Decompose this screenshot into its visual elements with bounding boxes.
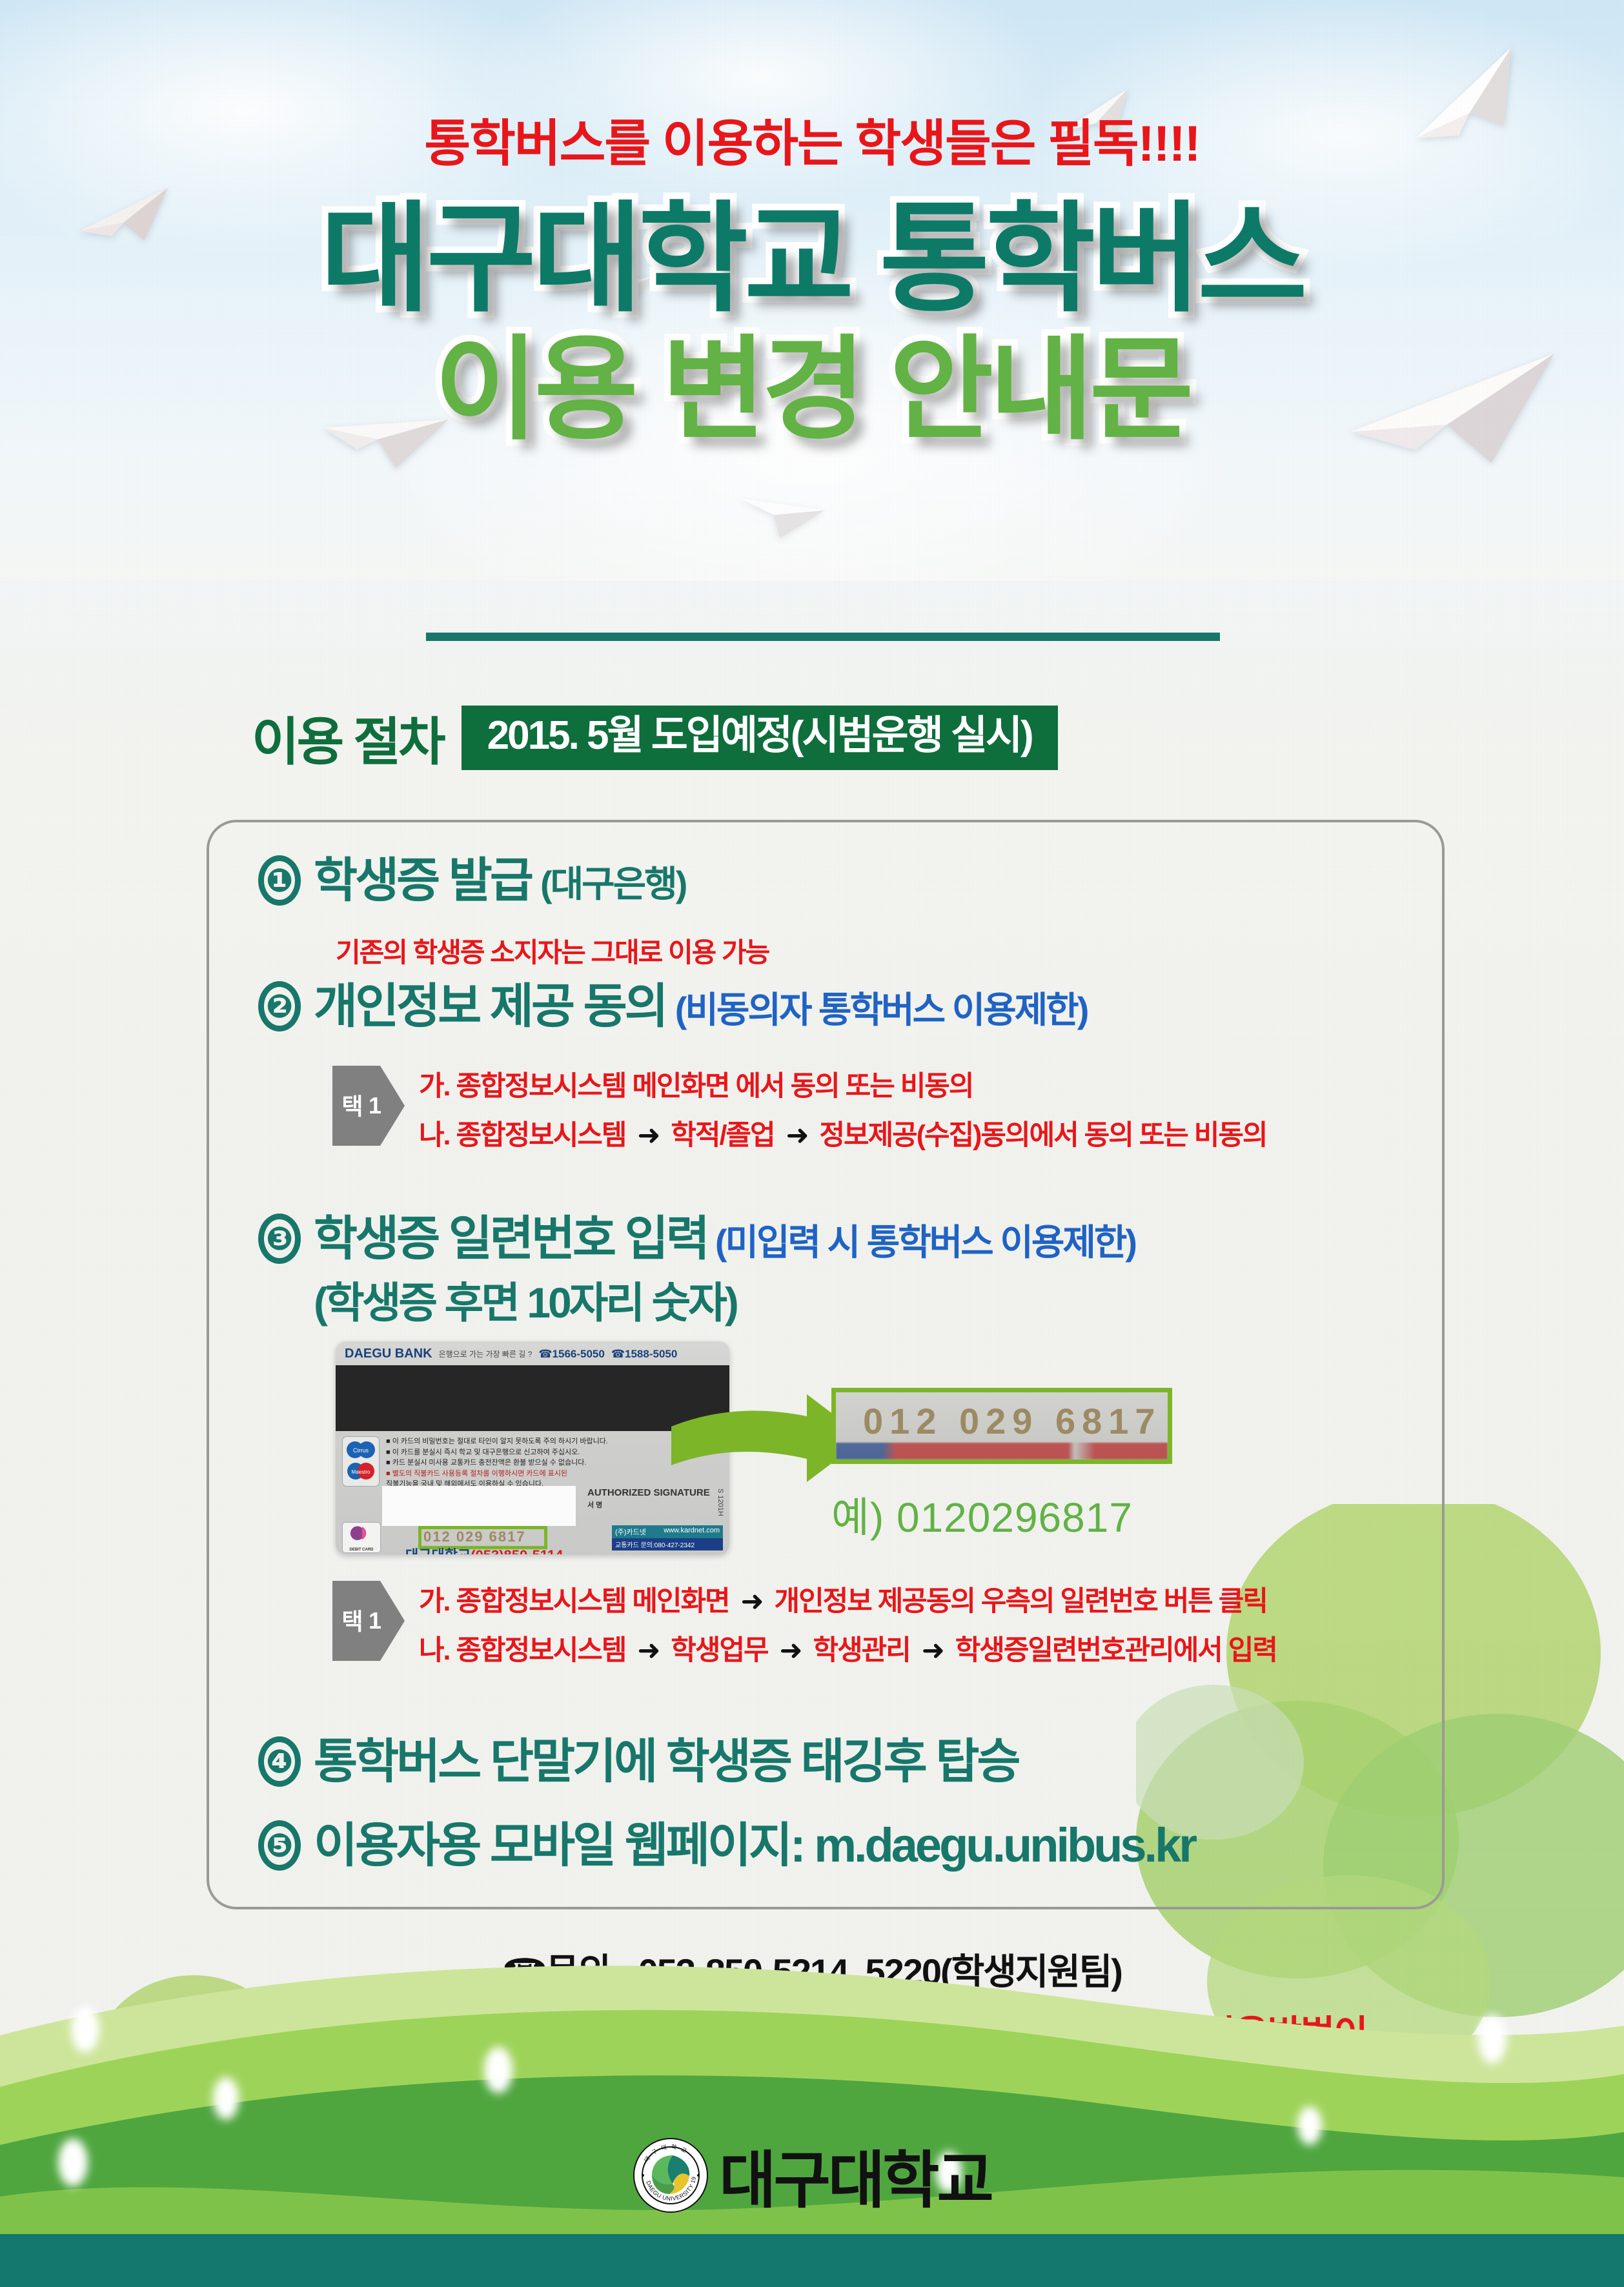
university-logo-row: 대 구 대 학 교 DAEGU UNIVERSITY 1956 대구대학교: [0, 2130, 1624, 2220]
card-network-logos: Cirrus Maestro: [342, 1436, 381, 1490]
flow-arrow-icon: ➜: [780, 1120, 813, 1151]
serial-example-text: 예) 0120296817: [831, 1485, 1133, 1544]
serial-zoom-callout: 012 029 6817: [831, 1388, 1172, 1464]
step-item-2: ❷ 개인정보 제공 동의 (비동의자 통학버스 이용제한): [258, 981, 1087, 1033]
poster-title: 대구대학교 통학버스 이용 변경 안내문: [0, 200, 1624, 447]
bottom-wave-decoration: [0, 1874, 1624, 2287]
step-4-title: 통학버스 단말기에 학생증 태깅후 탑승: [314, 1736, 1019, 1787]
flow-arrow-icon: ➜: [632, 1120, 664, 1151]
step-number-3: ❸: [258, 1214, 301, 1264]
glow-dot: [484, 2047, 513, 2093]
glow-dot: [213, 2077, 239, 2120]
step-5-title: 이용자용 모바일 웹페이지: m.daegu.unibus.kr: [314, 1820, 1195, 1871]
section-label: 이용 절차: [252, 700, 443, 775]
flow-arrow-icon: ➜: [775, 1635, 807, 1666]
card-bank-name: DAEGU BANK: [345, 1347, 432, 1361]
step-2-options: 택1 가. 종합정보시스템 메인화면 에서 동의 또는 비동의 나. 종합정보시…: [332, 1059, 1266, 1153]
step-1-title: 학생증 발급: [314, 855, 531, 906]
pick-label-number: 1: [369, 1092, 381, 1119]
student-card-back-image: DAEGU BANK 은행으로 가는 가장 빠른 길 ? ☎1566-5050 …: [336, 1341, 729, 1554]
step-3-subtitle: (학생증 후면 10자리 숫자): [314, 1268, 1135, 1330]
step-2-option-b: 나. 종합정보시스템 ➜ 학적/졸업 ➜ 정보제공(수집)동의에서 동의 또는 …: [419, 1113, 1266, 1153]
pick-one-badge: 택1: [332, 1066, 405, 1146]
card-bottom-area: AUTHORIZED SIGNATURE 서 명 S 1201H DEBIT C…: [336, 1485, 729, 1554]
cirrus-logo-icon: Cirrus: [345, 1440, 376, 1459]
step-1-paren: (대구은행): [540, 855, 685, 908]
callout-serial-number: 012 029 6817: [863, 1400, 1162, 1442]
step-number-2: ❷: [258, 981, 301, 1032]
university-telephone: 대구대학교(053)850-5114: [405, 1544, 563, 1554]
kicker-text: 통학버스를 이용하는 학생들은 필독!!!!: [0, 103, 1624, 176]
card-tel-1: ☎1566-5050: [538, 1348, 604, 1361]
step-2-option-a: 가. 종합정보시스템 메인화면 에서 동의 또는 비동의: [419, 1064, 1266, 1104]
maestro-logo-icon: Maestro: [345, 1461, 376, 1482]
pick-label-number: 1: [369, 1607, 381, 1634]
signature-box: [382, 1486, 576, 1526]
title-line-2: 이용 변경 안내문: [0, 334, 1624, 447]
flow-arrow-icon: ➜: [632, 1635, 664, 1666]
title-line-1: 대구대학교 통학버스: [0, 200, 1624, 320]
pick-label-text: 택: [334, 1609, 367, 1632]
step-number-1: ❶: [258, 855, 301, 906]
glow-dot: [71, 2006, 99, 2053]
step-item-1: ❶ 학생증 발급 (대구은행): [258, 855, 685, 908]
step-item-5: ❺ 이용자용 모바일 웹페이지: m.daegu.unibus.kr: [258, 1820, 1195, 1871]
card-notes-area: Cirrus Maestro ■ 이 카드의 비밀번호는 절대로 타인이 알지 …: [336, 1431, 729, 1490]
svg-text:Maestro: Maestro: [352, 1469, 370, 1475]
card-slogan: 은행으로 가는 가장 빠른 길 ?: [439, 1348, 533, 1359]
glow-dot: [1478, 2015, 1507, 2064]
step-3-options: 택1 가. 종합정보시스템 메인화면 ➜ 개인정보 제공동의 우측의 일련번호 …: [332, 1574, 1277, 1668]
debit-card-logo-icon: DEBIT CARD: [342, 1522, 381, 1553]
step-number-4: ❹: [258, 1736, 301, 1787]
magnetic-stripe: [336, 1365, 729, 1431]
step-number-5: ❺: [258, 1820, 301, 1871]
card-tel-2: ☎1588-5050: [611, 1348, 677, 1361]
pick-label-text: 택: [334, 1094, 367, 1117]
step-2-title: 개인정보 제공 동의: [314, 981, 666, 1032]
pick-one-badge: 택1: [332, 1581, 405, 1661]
step-3-option-a: 가. 종합정보시스템 메인화면 ➜ 개인정보 제공동의 우측의 일련번호 버튼 …: [419, 1579, 1277, 1619]
daegu-university-seal-icon: 대 구 대 학 교 DAEGU UNIVERSITY 1956: [633, 2137, 709, 2213]
svg-text:Cirrus: Cirrus: [353, 1447, 369, 1454]
kardnet-block: (주)카드넷www.kardnet.com 교통카드 문의:080-427-23…: [612, 1525, 723, 1550]
step-item-4: ❹ 통학버스 단말기에 학생증 태깅후 탑승: [258, 1736, 1019, 1787]
step-2-paren: (비동의자 통학버스 이용제한): [675, 981, 1088, 1033]
title-divider: [426, 633, 1220, 641]
card-header: DAEGU BANK 은행으로 가는 가장 빠른 길 ? ☎1566-5050 …: [336, 1341, 729, 1364]
step-item-3: ❸ 학생증 일련번호 입력 (미입력 시 통학버스 이용제한) (학생증 후면 …: [258, 1214, 1135, 1330]
section-header: 이용 절차 2015. 5월 도입예정(시범운행 실시): [252, 700, 1058, 775]
step-1-subtext: 기존의 학생증 소지자는 그대로 이용 가능: [336, 931, 769, 970]
university-name: 대구대학교: [719, 2130, 991, 2220]
section-badge: 2015. 5월 도입예정(시범운행 실시): [462, 706, 1058, 770]
step-3-paren: (미입력 시 통학버스 이용제한): [715, 1214, 1135, 1266]
step-3-title: 학생증 일련번호 입력: [314, 1214, 707, 1264]
flow-arrow-icon: ➜: [736, 1586, 768, 1617]
step-3-option-b: 나. 종합정보시스템 ➜ 학생업무 ➜ 학생관리 ➜ 학생증일련번호관리에서 입…: [419, 1628, 1277, 1668]
callout-blurred-strip: [836, 1443, 1168, 1459]
flow-arrow-icon: ➜: [917, 1635, 949, 1666]
